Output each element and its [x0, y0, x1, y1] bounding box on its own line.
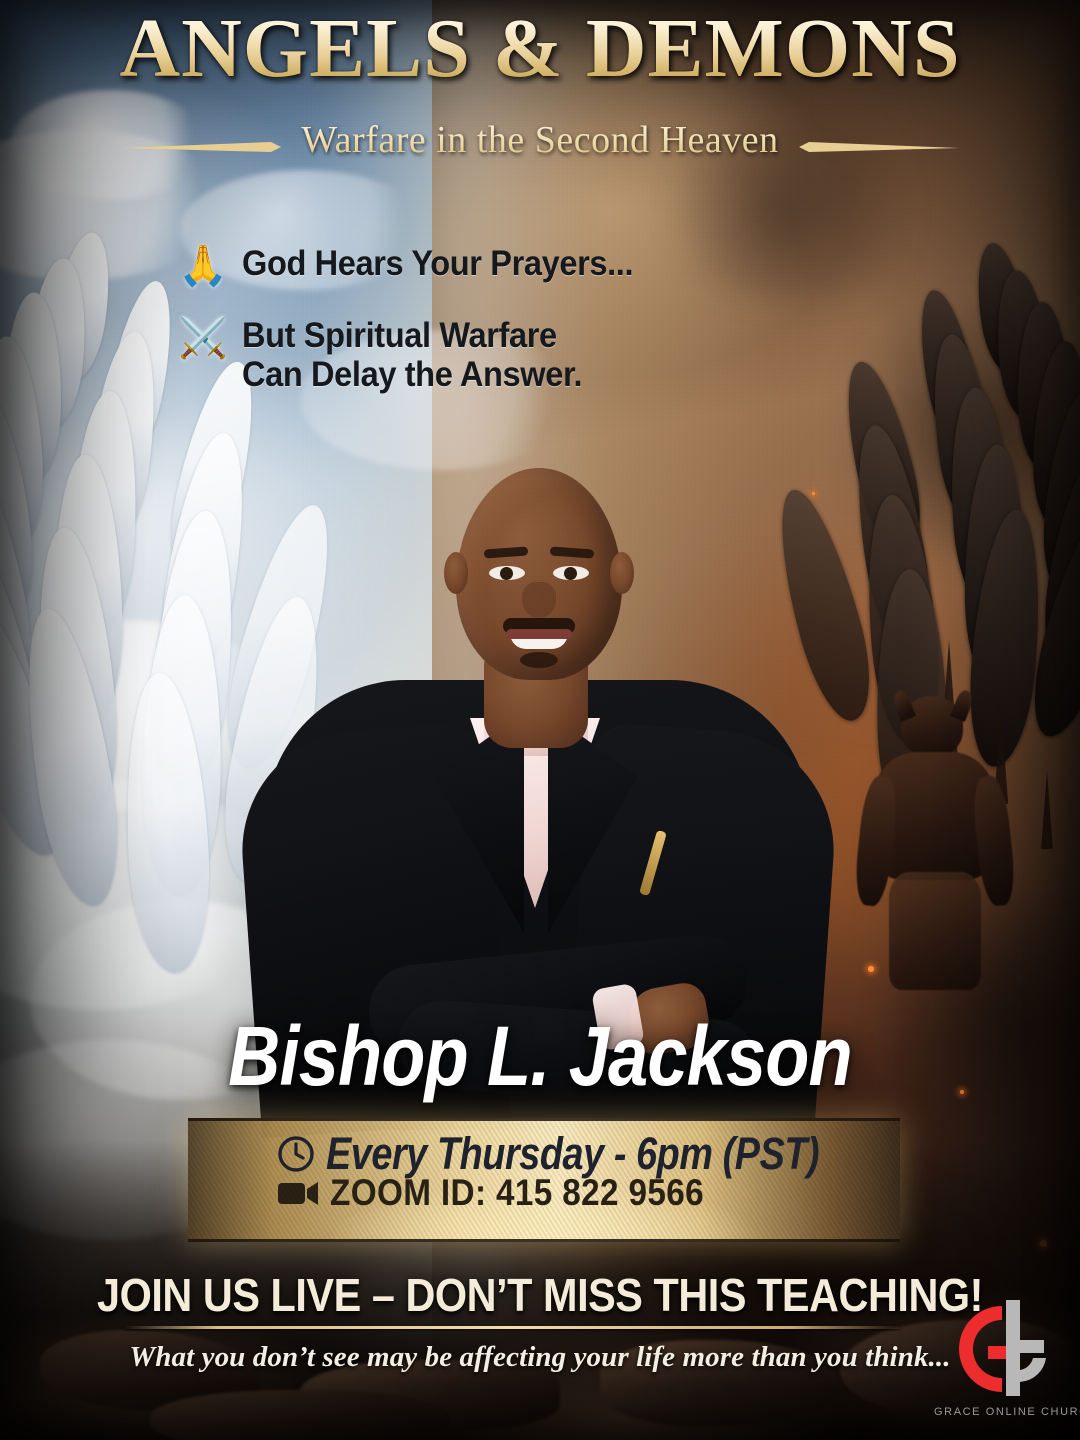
benefit-bullet-list: 🙏 God Hears Your Prayers... ⚔️ But Spiri…	[178, 244, 698, 424]
page-title: ANGELS & DEMONS	[0, 6, 1080, 92]
tagline-text: What you don’t see may be affecting your…	[0, 1341, 1080, 1374]
poster-canvas: ANGELS & DEMONS Warfare in the Second He…	[0, 0, 1080, 1440]
zoom-id-text: ZOOM ID: 415 822 9566	[330, 1174, 704, 1211]
page-subtitle: Warfare in the Second Heaven	[301, 118, 778, 162]
bullet-text-2: But Spiritual Warfare Can Delay the Answ…	[242, 316, 582, 394]
list-item: ⚔️ But Spiritual Warfare Can Delay the A…	[178, 316, 698, 394]
call-to-action-text: JOIN US LIVE – DON’T MISS THIS TEACHING!	[54, 1272, 1026, 1318]
video-camera-icon	[276, 1177, 320, 1209]
subtitle-row: Warfare in the Second Heaven	[0, 118, 1080, 162]
zoom-id-row: ZOOM ID: 415 822 9566	[188, 1174, 900, 1211]
schedule-time-row: Every Thursday - 6pm (PST)	[188, 1131, 900, 1176]
church-logo: GRACE ONLINE CHURCH	[934, 1296, 1066, 1430]
praying-hands-emoji: 🙏	[178, 246, 228, 286]
clock-icon	[276, 1134, 316, 1174]
logo-mark	[934, 1296, 1066, 1408]
logo-wordmark: GRACE ONLINE CHURCH	[934, 1406, 1066, 1418]
crossed-swords-emoji: ⚔️	[178, 318, 228, 358]
list-item: 🙏 God Hears Your Prayers...	[178, 244, 698, 286]
bullet-text-1: God Hears Your Prayers...	[242, 244, 633, 283]
schedule-time-text: Every Thursday - 6pm (PST)	[326, 1131, 819, 1176]
speaker-name: Bishop L. Jackson	[76, 1014, 1005, 1098]
schedule-gold-band: Every Thursday - 6pm (PST) ZOOM ID: 415 …	[188, 1118, 900, 1242]
divider-rule	[125, 1326, 900, 1329]
